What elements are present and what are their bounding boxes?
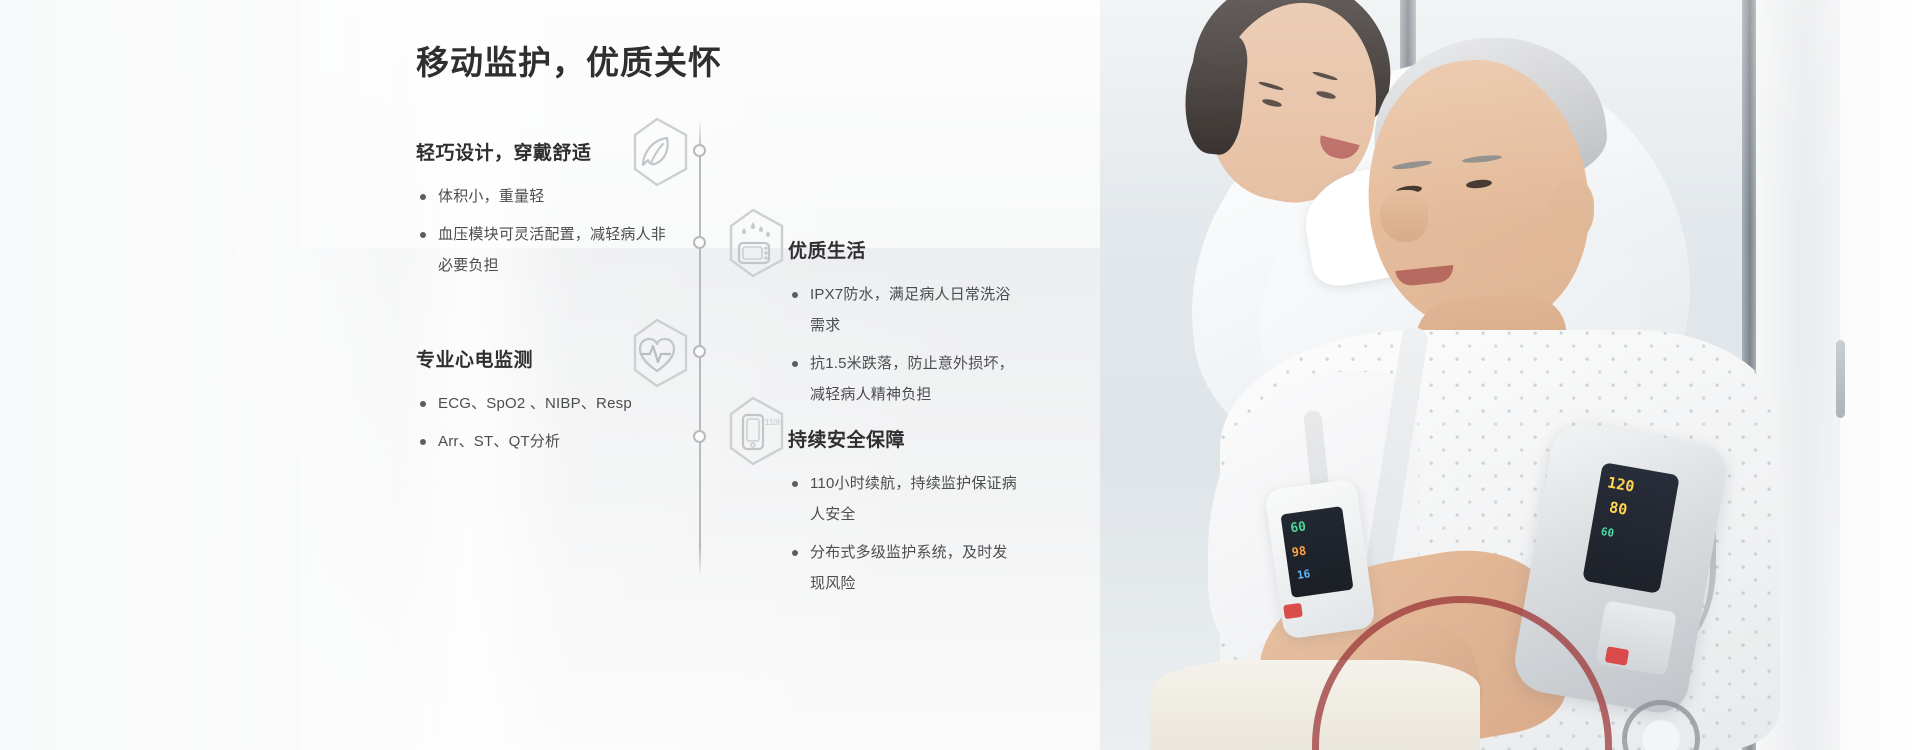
product-feature-banner: 120 80 60 60 98 16 移动监护，优质关怀 <box>0 0 1920 750</box>
feature-content: 移动监护，优质关怀 <box>0 0 1920 750</box>
timeline-dot-continuous-safety <box>693 430 706 443</box>
feature-section-continuous-safety: 持续安全保障 110小时续航，持续监护保证病人安全 分布式多级监护系统，及时发现… <box>788 425 1018 599</box>
list-item: Arr、ST、QT分析 <box>416 426 681 457</box>
feature-section-quality-life: 优质生活 IPX7防水，满足病人日常洗浴需求 抗1.5米跌落，防止意外损坏，减轻… <box>788 236 1018 410</box>
section-title: 优质生活 <box>788 236 1018 263</box>
list-item: 抗1.5米跌落，防止意外损坏，减轻病人精神负担 <box>788 348 1018 410</box>
waterproof-device-icon <box>713 203 793 283</box>
timeline-dot-quality-life <box>693 236 706 249</box>
feature-section-ecg-monitoring: 专业心电监测 ECG、SpO2 、NIBP、Resp Arr、ST、QT分析 <box>416 345 681 457</box>
list-item: 血压模块可灵活配置，减轻病人非必要负担 <box>416 219 681 281</box>
section-bullet-list: 110小时续航，持续监护保证病人安全 分布式多级监护系统，及时发现风险 <box>788 468 1018 599</box>
battery-110h-icon: 110h <box>713 391 793 471</box>
page-title: 移动监护，优质关怀 <box>416 36 722 84</box>
section-title: 专业心电监测 <box>416 345 681 372</box>
section-title: 持续安全保障 <box>788 425 1018 452</box>
section-bullet-list: 体积小，重量轻 血压模块可灵活配置，减轻病人非必要负担 <box>416 181 681 281</box>
list-item: 110小时续航，持续监护保证病人安全 <box>788 468 1018 530</box>
list-item: ECG、SpO2 、NIBP、Resp <box>416 388 681 419</box>
section-title: 轻巧设计，穿戴舒适 <box>416 138 681 165</box>
list-item: 分布式多级监护系统，及时发现风险 <box>788 537 1018 599</box>
section-bullet-list: ECG、SpO2 、NIBP、Resp Arr、ST、QT分析 <box>416 388 681 457</box>
list-item: IPX7防水，满足病人日常洗浴需求 <box>788 279 1018 341</box>
list-item: 体积小，重量轻 <box>416 181 681 212</box>
section-bullet-list: IPX7防水，满足病人日常洗浴需求 抗1.5米跌落，防止意外损坏，减轻病人精神负… <box>788 279 1018 410</box>
feature-section-light-design: 轻巧设计，穿戴舒适 体积小，重量轻 血压模块可灵活配置，减轻病人非必要负担 <box>416 138 681 281</box>
battery-hours-label: 110h <box>765 418 782 427</box>
